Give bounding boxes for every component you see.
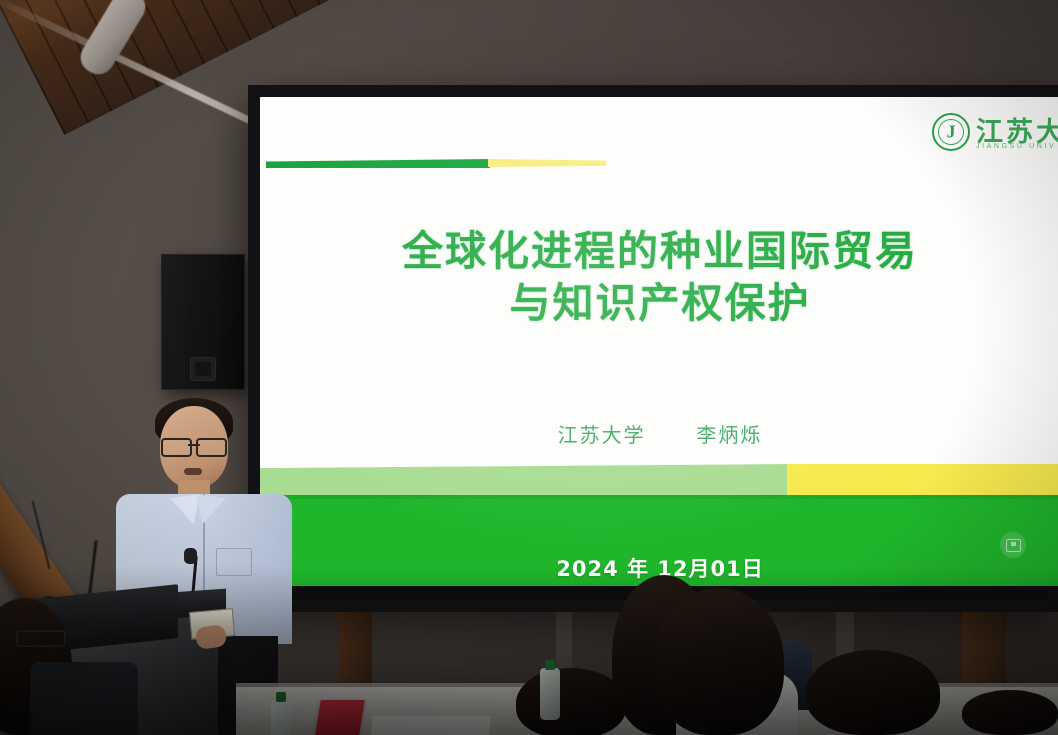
university-name-en: JIANGSU UNIV — [976, 143, 1056, 150]
glasses-icon — [161, 438, 227, 453]
band-strip-yellow — [787, 464, 1058, 498]
university-logo: J 江苏大 JIANGSU UNIV — [932, 113, 1058, 151]
presentation-display[interactable]: J 江苏大 JIANGSU UNIV 全球化进程的种业国际贸易 与知识产权保护 … — [248, 85, 1058, 612]
decorative-bar-yellow — [488, 159, 606, 167]
slide-affiliation: 江苏大学 — [558, 423, 646, 447]
band-strip-light-green — [260, 464, 800, 498]
slide-canvas: J 江苏大 JIANGSU UNIV 全球化进程的种业国际贸易 与知识产权保护 … — [260, 97, 1058, 586]
wall-speaker — [161, 254, 245, 390]
decorative-bar-green — [266, 159, 490, 168]
slide-title-line1: 全球化进程的种业国际贸易 — [402, 227, 918, 275]
speaker-driver-icon — [190, 357, 216, 381]
microphone-icon — [184, 548, 197, 564]
screen-cast-icon — [1000, 532, 1026, 558]
slide-presenter-name: 李炳烁 — [696, 423, 762, 447]
university-name-cn: 江苏大 — [976, 119, 1058, 146]
slide-title-line2: 与知识产权保护 — [260, 277, 1058, 329]
presenter-mouth — [184, 468, 202, 475]
emblem-letter: J — [947, 122, 956, 143]
slide-byline: 江苏大学 李炳烁 — [260, 419, 1058, 448]
presentation-photo-scene: J 江苏大 JIANGSU UNIV 全球化进程的种业国际贸易 与知识产权保护 … — [0, 0, 1058, 735]
university-emblem-icon: J — [932, 113, 970, 151]
floor-shadow — [0, 565, 1058, 735]
slide-title: 全球化进程的种业国际贸易 与知识产权保护 — [260, 225, 1058, 330]
